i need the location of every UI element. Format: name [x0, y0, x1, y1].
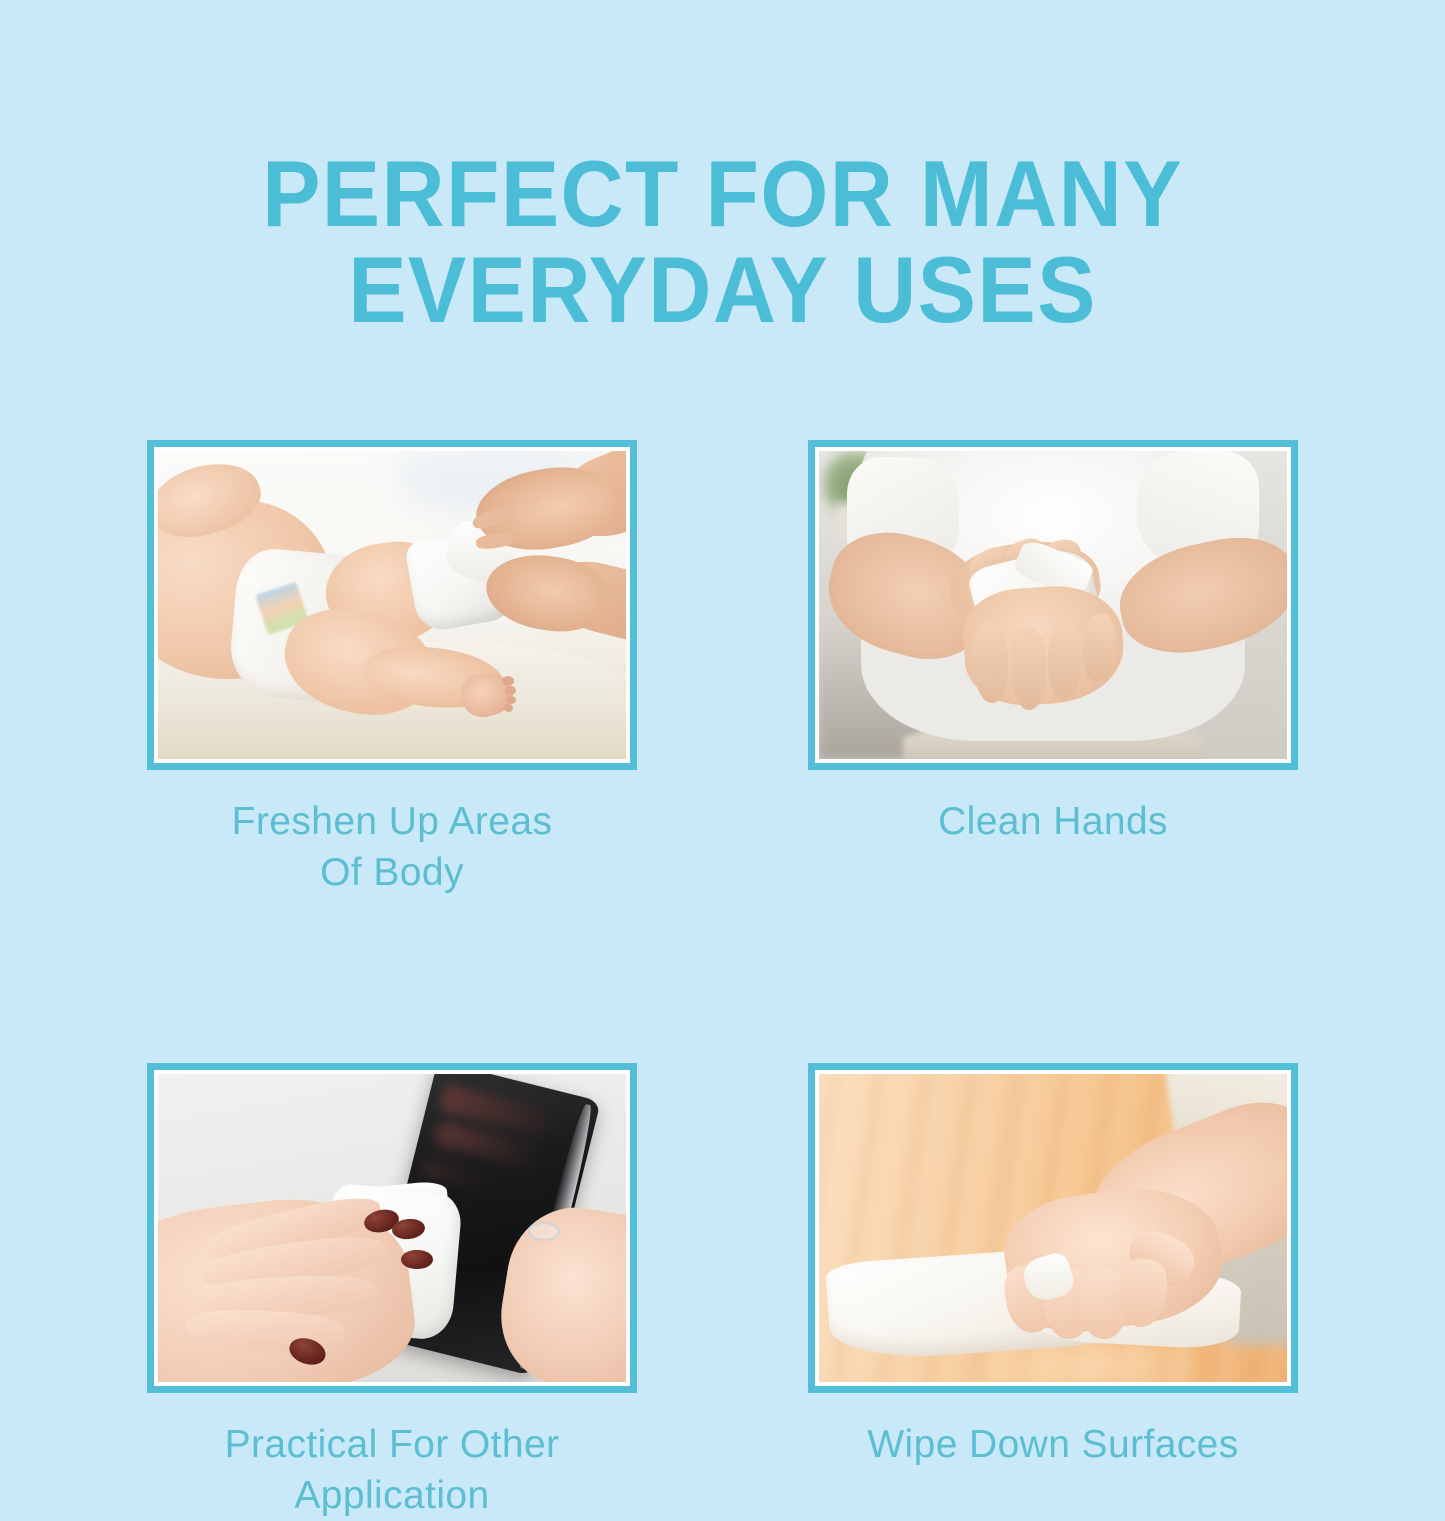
wiping-surface-photo — [819, 1074, 1287, 1382]
feature-card-clean-hands: Clean Hands — [808, 440, 1298, 898]
feature-card-wipe-down-surfaces: Wipe Down Surfaces — [808, 1063, 1298, 1521]
cleaning-smartphone-photo — [158, 1074, 626, 1382]
photo-frame — [808, 1063, 1298, 1393]
finger-shape — [1010, 626, 1047, 710]
cleaning-hands-photo — [819, 451, 1287, 759]
feature-caption: Freshen Up Areas Of Body — [147, 796, 637, 898]
page-title: PERFECT FOR MANY EVERYDAY USES — [0, 146, 1445, 338]
photo-frame — [147, 440, 637, 770]
product-feature-poster: PERFECT FOR MANY EVERYDAY USES — [0, 0, 1445, 1445]
feature-caption: Clean Hands — [808, 796, 1298, 847]
feature-caption: Practical For Other Application — [147, 1419, 637, 1521]
title-line-1: PERFECT FOR MANY — [51, 146, 1395, 242]
baby-toe-shape — [504, 704, 512, 711]
feature-grid: Freshen Up Areas Of Body — [147, 440, 1298, 1521]
feature-row-bottom: Practical For Other Application — [147, 1063, 1298, 1521]
title-line-2: EVERYDAY USES — [51, 242, 1395, 338]
painted-fingernail-shape — [401, 1250, 433, 1270]
baby-toe-shape — [506, 696, 516, 704]
baby-diaper-change-photo — [158, 451, 626, 759]
feature-card-freshen-up-areas-of-body: Freshen Up Areas Of Body — [147, 440, 637, 898]
photo-frame — [808, 440, 1298, 770]
feature-row-top: Freshen Up Areas Of Body — [147, 440, 1298, 898]
feature-card-practical-for-other-application: Practical For Other Application — [147, 1063, 637, 1521]
photo-frame — [147, 1063, 637, 1393]
